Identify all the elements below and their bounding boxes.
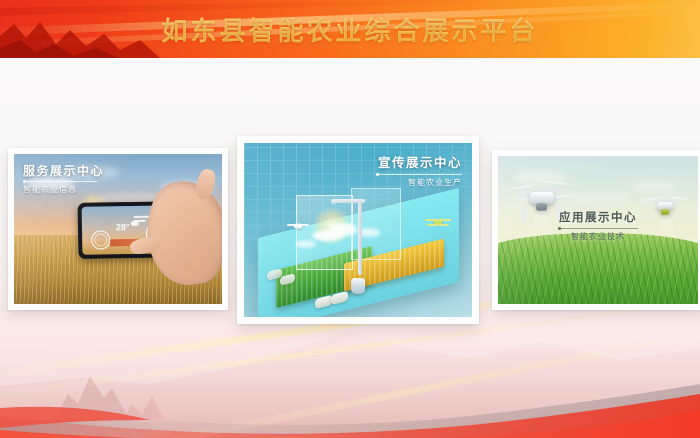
card-service-title: 服务展示中心	[23, 165, 104, 177]
header-banner: 如东县智能农业综合展示平台	[0, 0, 700, 58]
weather-cloud-icon	[131, 221, 139, 226]
card-application-title: 应用展示中心	[558, 212, 638, 224]
drone-icon	[425, 216, 451, 228]
card-service-subtitle: 智能农业信息	[23, 186, 104, 194]
divider	[558, 228, 638, 229]
lamp-arm	[333, 199, 365, 203]
card-application-subtitle: 智能农业技术	[558, 233, 638, 241]
card-service-display-center[interactable]: 28° 服务展示中心 智能农业	[8, 148, 228, 310]
lamp-post	[358, 202, 362, 275]
divider	[376, 174, 462, 175]
card-promotion-text: 宣传展示中心 智能农业生产	[376, 157, 462, 187]
drone-rotor	[287, 224, 298, 226]
temperature-readout: 28°	[116, 222, 130, 232]
drone-rotor	[425, 219, 438, 221]
card-promotion-display-center[interactable]: 宣传展示中心 智能农业生产	[237, 136, 479, 324]
drone-rotor	[438, 219, 451, 221]
card-service-image: 28° 服务展示中心 智能农业	[14, 154, 222, 304]
drone-camera-icon	[536, 203, 547, 211]
platform-landing-page: 如东县智能农业综合展示平台 28°	[0, 0, 700, 438]
drone-leg	[522, 204, 525, 222]
card-application-display-center[interactable]: 应用展示中心 智能农业技术	[492, 150, 700, 310]
drone-icon	[642, 194, 688, 222]
cloud-icon	[331, 223, 357, 236]
drone-rotor	[298, 224, 309, 226]
card-promotion-subtitle: 智能农业生产	[376, 179, 462, 187]
card-promotion-title: 宣传展示中心	[376, 157, 462, 170]
drone-rotor	[427, 224, 438, 226]
card-promotion-image: 宣传展示中心 智能农业生产	[244, 143, 472, 317]
card-application-image: 应用展示中心 智能农业技术	[498, 156, 698, 304]
cloud-icon	[632, 180, 678, 191]
drone-body	[530, 192, 554, 204]
drone-rotor	[438, 224, 449, 226]
drone-icon	[287, 221, 309, 231]
lamp-head-icon	[331, 199, 336, 204]
card-application-text: 应用展示中心 智能农业技术	[558, 212, 638, 241]
divider	[23, 181, 97, 182]
card-service-text: 服务展示中心 智能农业信息	[23, 165, 104, 194]
water-tank	[351, 278, 365, 294]
page-title: 如东县智能农业综合展示平台	[0, 0, 700, 58]
